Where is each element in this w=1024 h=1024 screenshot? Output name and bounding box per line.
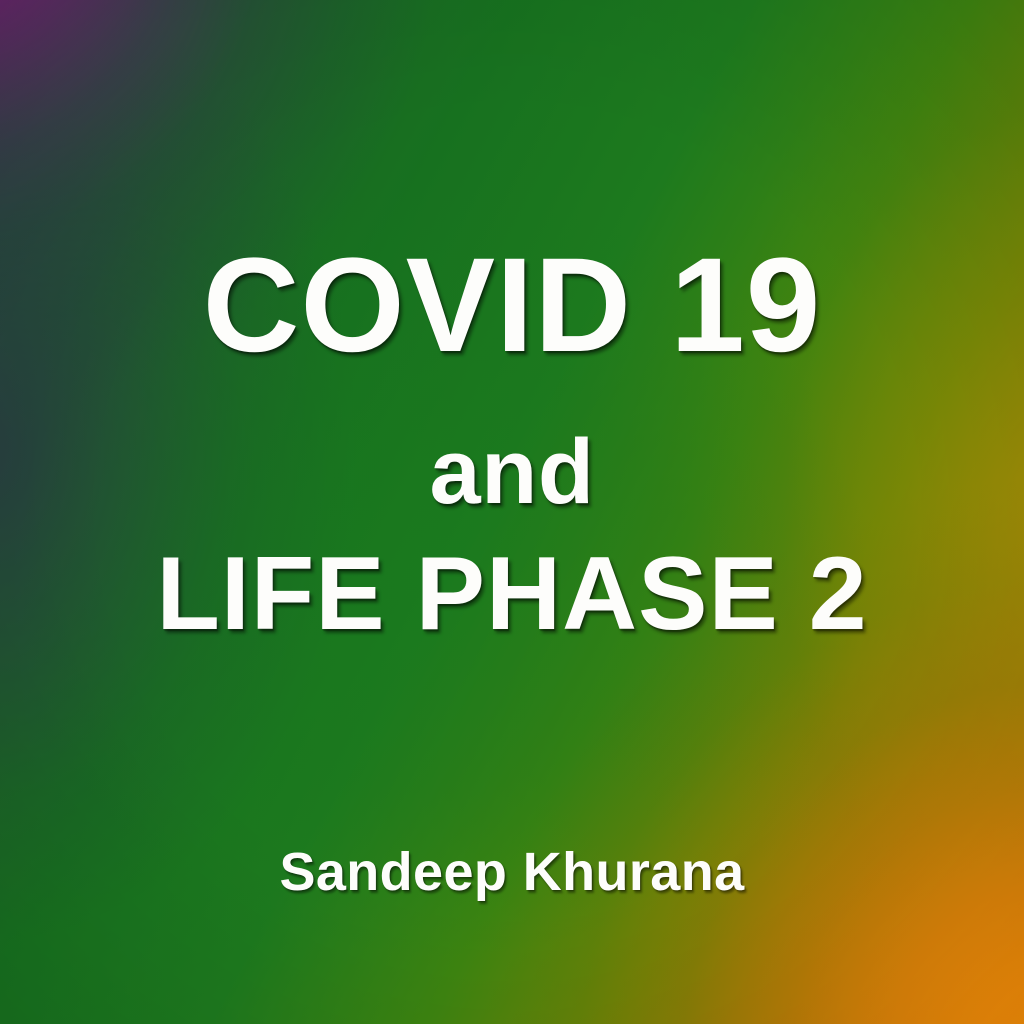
- cover-artwork: COVID 19 and LIFE PHASE 2 Sandeep Khuran…: [0, 0, 1024, 1024]
- title-secondary: LIFE PHASE 2: [0, 542, 1024, 646]
- title-primary: COVID 19: [0, 239, 1024, 373]
- cover-text-group: COVID 19 and LIFE PHASE 2 Sandeep Khuran…: [0, 0, 1024, 1024]
- title-conjunction: and: [0, 426, 1024, 518]
- author-name: Sandeep Khurana: [0, 845, 1024, 899]
